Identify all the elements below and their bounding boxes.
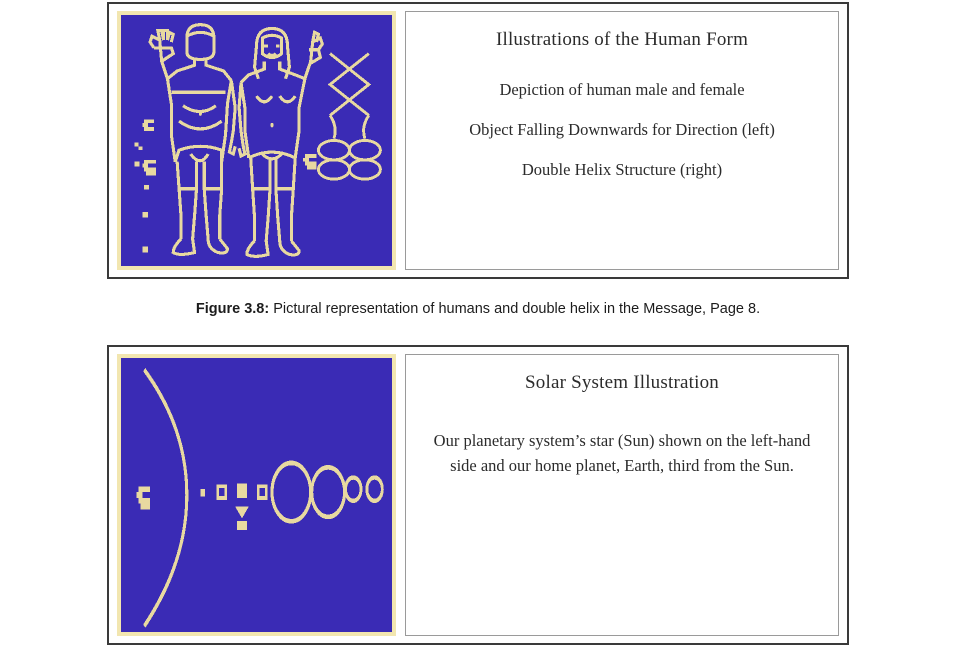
figure-1-caption: Figure 3.8: Pictural representation of h…	[107, 301, 849, 317]
figure-1-line-3: Double Helix Structure (right)	[420, 158, 824, 182]
figure-1-line-1: Depiction of human male and female	[420, 78, 824, 102]
figure-2-paragraph: Our planetary system’s star (Sun) shown …	[422, 429, 822, 479]
figure-1-line-2: Object Falling Downwards for Direction (…	[420, 118, 824, 142]
figure-1-caption-label: Figure 3.8:	[196, 301, 269, 317]
figure-2-title: Solar System Illustration	[525, 372, 719, 395]
solar-system-illustration	[117, 354, 396, 636]
figure-1-description-lines: Depiction of human male and female Objec…	[420, 78, 824, 182]
figure-2-description-lines: Our planetary system’s star (Sun) shown …	[420, 429, 824, 479]
human-form-illustration	[117, 11, 396, 270]
planet-mercury	[200, 489, 205, 496]
human-form-pixel-art-svg	[121, 15, 392, 266]
document-page: Illustrations of the Human Form Depictio…	[0, 0, 960, 539]
earth-marker-base	[237, 521, 247, 530]
figure-1-description-panel: Illustrations of the Human Form Depictio…	[405, 11, 839, 270]
figure-1-container: Illustrations of the Human Form Depictio…	[107, 2, 849, 279]
solar-system-pixel-art-svg	[121, 358, 392, 632]
planet-earth-group	[235, 483, 249, 530]
figure-1-title: Illustrations of the Human Form	[496, 29, 748, 52]
planet-earth	[237, 483, 247, 498]
figure-1-caption-text: Pictural representation of humans and do…	[273, 301, 760, 317]
figure-2-description-panel: Solar System Illustration Our planetary …	[405, 354, 839, 636]
figure-2-container: Solar System Illustration Our planetary …	[107, 345, 849, 645]
